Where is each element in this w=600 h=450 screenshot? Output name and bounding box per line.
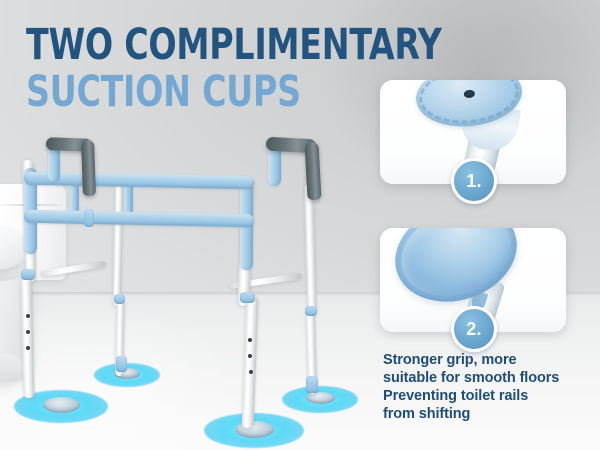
product-marketing-image: TWO COMPLIMENTARY SUCTION CUPS 1. 2. Str… (0, 0, 600, 450)
rail-clip-lower (84, 209, 94, 227)
suction-cup-foot-rear-left (94, 363, 160, 387)
leg-collar-rear-right (305, 306, 317, 316)
body-copy-line-2: suitable for smooth floors (383, 370, 593, 388)
body-copy-line-1: Stronger grip, more (383, 352, 593, 370)
body-copy-line-4: from shifting (383, 406, 593, 424)
toilet-safety-rail-frame (18, 138, 368, 438)
foot-collar-rear-right (306, 376, 318, 393)
handle-grip-right-bend[interactable] (304, 142, 321, 201)
leg-collar-front-right (240, 292, 255, 303)
height-adjust-hole (248, 354, 252, 358)
height-adjust-hole (26, 314, 30, 318)
leg-collar-front-left (21, 269, 35, 280)
frame-rail-lower (24, 210, 254, 227)
leg-front-right-lower (242, 296, 259, 428)
foot-collar-rear-left (116, 356, 127, 372)
height-adjust-hole (26, 346, 30, 350)
leg-front-left-lower (20, 274, 34, 398)
height-adjust-hole (249, 370, 253, 374)
suction-cup-bowl-icon (383, 228, 530, 317)
suction-cup-lip-icon (390, 228, 522, 309)
headline-line-1: TWO COMPLIMENTARY (26, 24, 442, 66)
suction-cup-body (43, 397, 80, 413)
suction-cup-foot-front-right (204, 413, 304, 448)
rear-support-bar-left (40, 261, 106, 277)
body-copy: Stronger grip, more suitable for smooth … (383, 352, 593, 424)
height-adjust-hole (26, 330, 30, 334)
height-adjust-hole (248, 338, 252, 342)
handle-grip-left-bend[interactable] (81, 140, 96, 196)
callout-badge-1: 1. (451, 158, 497, 204)
leg-collar-rear-left (114, 294, 125, 304)
body-copy-line-3: Preventing toilet rails (383, 388, 593, 406)
callout-badge-2: 2. (451, 306, 497, 352)
leg-rear-left-upper (113, 178, 124, 306)
suction-cup-foot-rear-right (282, 386, 358, 413)
leg-rear-right-upper (304, 184, 317, 316)
